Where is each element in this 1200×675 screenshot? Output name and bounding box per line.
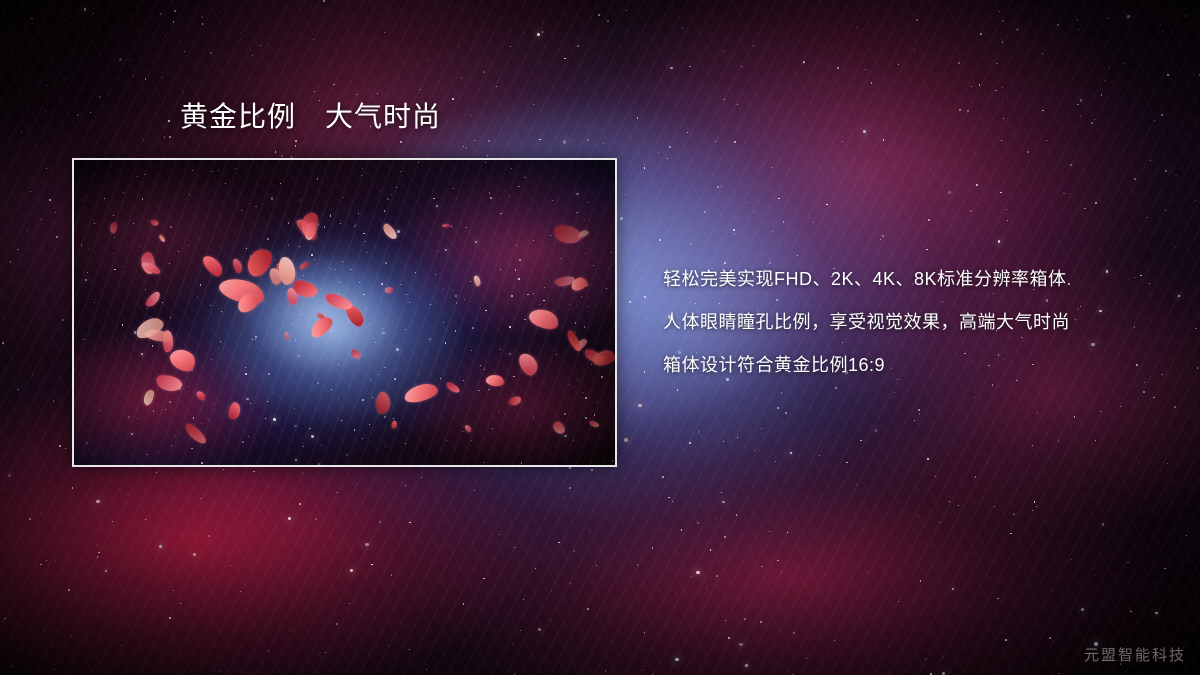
description-line-3: 箱体设计符合黄金比例16:9	[663, 344, 1163, 387]
feature-description: 轻松完美实现FHD、2K、4K、8K标准分辨率箱体 人体眼睛瞳孔比例，享受视觉效…	[663, 258, 1163, 387]
page-title: 黄金比例 大气时尚	[180, 100, 441, 134]
description-line-2: 人体眼睛瞳孔比例，享受视觉效果，高端大气时尚	[663, 301, 1163, 344]
galaxy-photo-vignette	[74, 160, 615, 465]
description-line-1: 轻松完美实现FHD、2K、4K、8K标准分辨率箱体	[663, 258, 1163, 301]
presentation-slide: 黄金比例 大气时尚 轻松完美实现FHD、2K、4K、8K标准分辨率箱体 人体眼睛…	[0, 0, 1200, 675]
framed-image	[72, 158, 617, 467]
watermark: 元盟智能科技	[1084, 644, 1186, 665]
